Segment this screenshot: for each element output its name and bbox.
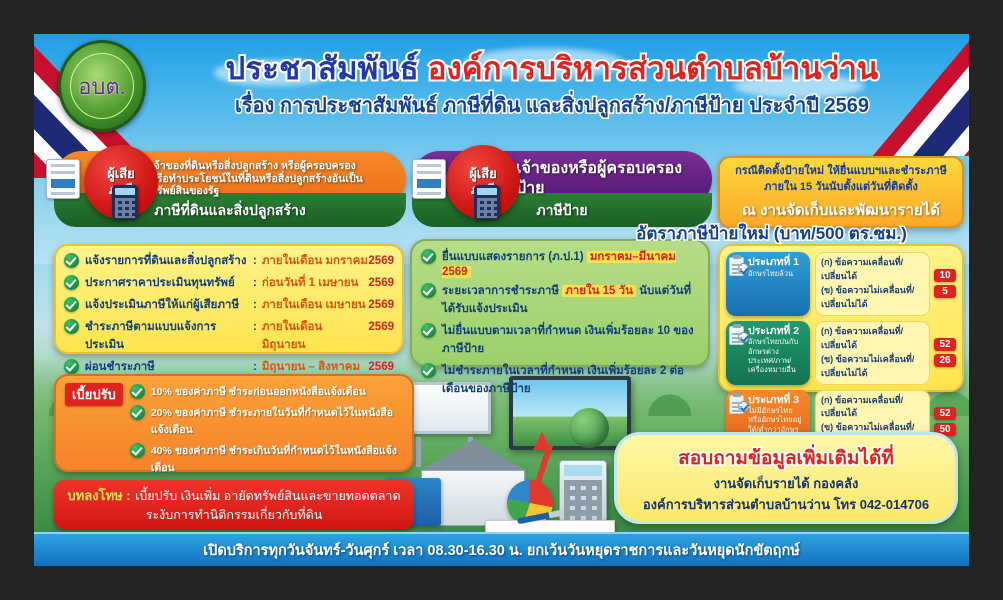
land-tax-banner: เจ้าของที่ดินหรือสิ่งปลูกสร้าง หรือผู้คร… [54, 151, 406, 227]
sign-schedule-rows: ยื่นแบบแสดงรายการ (ภ.ป.1) มกราคม–มีนาคม … [421, 248, 699, 398]
sign-schedule-row: ไม่ชำระภายในเวลาที่กำหนด เงินเพิ่มร้อยละ… [421, 362, 699, 398]
land-schedule-panel: แจ้งรายการที่ดินและสิ่งปลูกสร้าง:ภายในเด… [54, 244, 404, 354]
land-task-deadline: ภายในเดือน มกราคม [262, 252, 369, 270]
document-icon [412, 159, 446, 199]
check-icon [64, 359, 79, 374]
rate-category-cell: ประเภทที่ 1อักษรไทยล้วน [726, 252, 810, 316]
fine-row-text: 10% ของค่าภาษี ชำระก่อนออกหนังสือแจ้งเตื… [151, 383, 366, 400]
rate-category-title: ประเภทที่ 2 [748, 325, 805, 338]
calculator-icon [112, 185, 138, 219]
document-icon [46, 159, 80, 199]
land-task-deadline: ภายในเดือน มิถุนายน [262, 318, 369, 354]
calculator-large-icon [559, 460, 607, 522]
notice-line-2: ภายใน 15 วันนับตั้งแต่วันที่ติดตั้ง [728, 180, 954, 196]
notice-line-1: กรณีติดตั้งป้ายใหม่ ให้ยื่นแบบฯและชำระภา… [728, 164, 954, 180]
sign-schedule-text: ไม่ชำระภายในเวลาที่กำหนด เงินเพิ่มร้อยละ… [442, 362, 699, 398]
check-icon [421, 249, 436, 264]
land-schedule-rows: แจ้งรายการที่ดินและสิ่งปลูกสร้าง:ภายในเด… [64, 252, 394, 376]
land-schedule-row: ชำระภาษีตามแบบแจ้งการประเมิน:ภายในเดือน … [64, 318, 394, 354]
rate-category-title: ประเภทที่ 1 [748, 256, 805, 269]
rate-option-value: 5 [934, 285, 956, 298]
contact-line-1: งานจัดเก็บรายได้ กองคลัง [627, 475, 945, 494]
land-task-year: 2569 [368, 361, 394, 373]
land-task-deadline: ก่อนวันที่ 1 เมษายน [262, 274, 369, 292]
check-icon [130, 443, 145, 458]
sign-schedule-text: ระยะเวลาการชำระภาษี ภายใน 15 วัน นับแต่ว… [442, 282, 699, 318]
land-task-separator: : [253, 255, 257, 267]
new-sign-notice-box: กรณีติดตั้งป้ายใหม่ ให้ยื่นแบบฯและชำระภา… [718, 156, 964, 228]
land-task-label: ชำระภาษีตามแบบแจ้งการประเมิน [85, 318, 253, 354]
penalty-consequence-strip: บทลงโทษ : เบี้ยปรับ เงินเพิ่ม อายัดทรัพย… [54, 480, 414, 529]
rate-category-subtitle: อักษรไทยปนกับอักษรต่างประเทศ/ภาพ/เครื่อง… [748, 337, 805, 375]
land-badge-line-1: ผู้เสีย [107, 166, 135, 182]
rate-option-label: (ก) ข้อความเคลื่อนที่/เปลี่ยนได้ [821, 394, 924, 422]
land-schedule-row: ประกาศราคาประเมินทุนทรัพย์:ก่อนวันที่ 1 … [64, 274, 394, 292]
rate-category-cell: ประเภทที่ 2อักษรไทยปนกับอักษรต่างประเทศ/… [726, 321, 810, 385]
rate-category-subtitle: อักษรไทยล้วน [748, 269, 805, 278]
land-schedule-row: แจ้งประเมินภาษีให้แก่ผู้เสียภาษี:ภายในเด… [64, 296, 394, 314]
land-task-label: ประกาศราคาประเมินทุนทรัพย์ [85, 274, 253, 292]
check-icon [421, 363, 436, 378]
sign-schedule-panel: ยื่นแบบแสดงรายการ (ภ.ป.1) มกราคม–มีนาคม … [410, 239, 710, 367]
check-icon [421, 283, 436, 298]
emblem-inner: อบต. [70, 53, 134, 119]
check-icon [64, 319, 79, 334]
fine-row: 20% ของค่าภาษี ชำระภายในวันที่กำหนดไว้ใน… [130, 404, 403, 438]
land-task-separator: : [253, 321, 257, 333]
rate-rows-container: ประเภทที่ 1อักษรไทยล้วน(ก) ข้อความเคลื่อ… [726, 252, 956, 453]
sign-schedule-highlight: ภายใน 15 วัน [562, 285, 636, 297]
fine-row-text: 40% ของค่าภาษี ชำระเกินวันที่กำหนดไว้ในห… [151, 442, 403, 476]
sign-tax-description: เจ้าของหรือผู้ครอบครองป้าย [516, 159, 700, 198]
check-icon [130, 405, 145, 420]
land-task-year: 2569 [368, 255, 394, 267]
check-icon [64, 297, 79, 312]
sign-schedule-text: ยื่นแบบแสดงรายการ (ภ.ป.1) มกราคม–มีนาคม … [442, 248, 699, 278]
clipboard-icon [729, 326, 744, 345]
check-icon [64, 253, 79, 268]
land-desc-line-2: หรือทำประโยชน์ในที่ดินหรือสิ่งปลูกสร้างอ… [150, 173, 363, 186]
rate-option-label: (ก) ข้อความเคลื่อนที่/เปลี่ยนได้ [821, 325, 924, 353]
rate-value-cell: 5226 [934, 321, 956, 385]
check-icon [421, 323, 436, 338]
land-tax-description: เจ้าของที่ดินหรือสิ่งปลูกสร้าง หรือผู้คร… [150, 160, 363, 198]
header-block: ประชาสัมพันธ์ องค์การบริหารส่วนตำบลบ้านว… [152, 52, 952, 121]
sign-schedule-row: ไม่ยื่นแบบตามเวลาที่กำหนด เงินเพิ่มร้อยล… [421, 322, 699, 358]
rate-option-cell: (ก) ข้อความเคลื่อนที่/เปลี่ยนได้(ข) ข้อค… [815, 321, 930, 385]
page-subtitle: เรื่อง การประชาสัมพันธ์ ภาษีที่ดิน และสิ… [152, 89, 952, 121]
land-task-separator: : [253, 361, 257, 373]
land-desc-line-1: เจ้าของที่ดินหรือสิ่งปลูกสร้าง หรือผู้คร… [150, 160, 363, 173]
contact-box: สอบถามข้อมูลเพิ่มเติมได้ที่ งานจัดเก็บรา… [614, 432, 958, 524]
poster-canvas: อบต. ประชาสัมพันธ์ องค์การบริหารส่วนตำบล… [34, 34, 969, 566]
penalty-strip-label: บทลงโทษ : [67, 488, 130, 503]
penalty-strip-line-1: เบี้ยปรับ เงินเพิ่ม อายัดทรัพย์สินและขาย… [135, 489, 401, 503]
rate-value-cell: 105 [934, 252, 956, 316]
clipboard-icon [729, 257, 744, 276]
title-part-2: องค์การบริหารส่วนตำบลบ้านว่าน [428, 51, 879, 86]
fine-row: 10% ของค่าภาษี ชำระก่อนออกหนังสือแจ้งเตื… [130, 383, 403, 400]
penalty-strip-line-2: ระงับการทำนิติกรรมเกี่ยวกับที่ดิน [64, 507, 404, 523]
contact-heading: สอบถามข้อมูลเพิ่มเติมได้ที่ [627, 443, 945, 473]
rate-option-value: 10 [934, 269, 956, 282]
calculator-icon [474, 185, 500, 219]
rate-option-label: (ข) ข้อความไม่เคลื่อนที่/เปลี่ยนไม่ได้ [821, 353, 924, 381]
land-task-year: 2569 [368, 277, 394, 289]
sign-rate-table: ประเภทที่ 1อักษรไทยล้วน(ก) ข้อความเคลื่อ… [718, 244, 964, 392]
fine-row-text: 20% ของค่าภาษี ชำระภายในวันที่กำหนดไว้ใน… [151, 404, 403, 438]
check-icon [130, 384, 145, 399]
rate-option-value: 52 [934, 407, 956, 420]
rate-option-value: 26 [934, 354, 956, 367]
sign-schedule-row: ยื่นแบบแสดงรายการ (ภ.ป.1) มกราคม–มีนาคม … [421, 248, 699, 278]
page-title: ประชาสัมพันธ์ องค์การบริหารส่วนตำบลบ้านว… [152, 52, 952, 86]
land-task-label: แจ้งประเมินภาษีให้แก่ผู้เสียภาษี [85, 296, 253, 314]
land-task-deadline: ภายในเดือน เมษายน [262, 296, 369, 314]
sign-schedule-row: ระยะเวลาการชำระภาษี ภายใน 15 วัน นับแต่ว… [421, 282, 699, 318]
fine-row: 40% ของค่าภาษี ชำระเกินวันที่กำหนดไว้ในห… [130, 442, 403, 476]
land-task-separator: : [253, 299, 257, 311]
rate-option-label: (ข) ข้อความไม่เคลื่อนที่/เปลี่ยนไม่ได้ [821, 284, 924, 312]
land-task-year: 2569 [368, 299, 394, 311]
rate-table-row: ประเภทที่ 2อักษรไทยปนกับอักษรต่างประเทศ/… [726, 321, 956, 385]
rate-category-title: ประเภทที่ 3 [748, 394, 805, 407]
title-part-1: ประชาสัมพันธ์ [226, 51, 419, 86]
rate-option-cell: (ก) ข้อความเคลื่อนที่/เปลี่ยนได้(ข) ข้อค… [815, 252, 930, 316]
check-icon [64, 275, 79, 290]
clipboard-icon [729, 395, 744, 414]
penalty-panel: เบี้ยปรับ 10% ของค่าภาษี ชำระก่อนออกหนัง… [54, 374, 414, 472]
contact-line-2: องค์การบริหารส่วนตำบลบ้านว่าน โทร 042-01… [627, 496, 945, 515]
land-task-label: แจ้งรายการที่ดินและสิ่งปลูกสร้าง [85, 252, 253, 270]
globe-icon [569, 408, 609, 448]
sign-badge-line-1: ผู้เสีย [469, 166, 497, 182]
fine-tag: เบี้ยปรับ [65, 383, 123, 406]
fine-rows: 10% ของค่าภาษี ชำระก่อนออกหนังสือแจ้งเตื… [130, 383, 403, 480]
service-hours-bar: เปิดบริการทุกวันจันทร์-วันศุกร์ เวลา 08.… [34, 532, 969, 566]
rate-table-title: อัตราภาษีป้ายใหม่ (บาท/500 ตร.ซม.) [636, 220, 907, 247]
sign-tax-banner: เจ้าของหรือผู้ครอบครองป้าย ภาษีป้าย ผู้เ… [412, 151, 712, 227]
land-desc-line-3: ทรัพย์สินของรัฐ [150, 185, 363, 198]
notice-line-3: ณ งานจัดเก็บและพัฒนารายได้ [728, 198, 954, 222]
rate-option-label: (ก) ข้อความเคลื่อนที่/เปลี่ยนได้ [821, 256, 924, 284]
municipality-emblem: อบต. [58, 40, 146, 132]
land-task-separator: : [253, 277, 257, 289]
land-task-year: 2569 [368, 321, 394, 333]
sign-schedule-text: ไม่ยื่นแบบตามเวลาที่กำหนด เงินเพิ่มร้อยล… [442, 322, 699, 358]
rate-option-value: 52 [934, 338, 956, 351]
land-schedule-row: แจ้งรายการที่ดินและสิ่งปลูกสร้าง:ภายในเด… [64, 252, 394, 270]
rate-table-row: ประเภทที่ 1อักษรไทยล้วน(ก) ข้อความเคลื่อ… [726, 252, 956, 316]
